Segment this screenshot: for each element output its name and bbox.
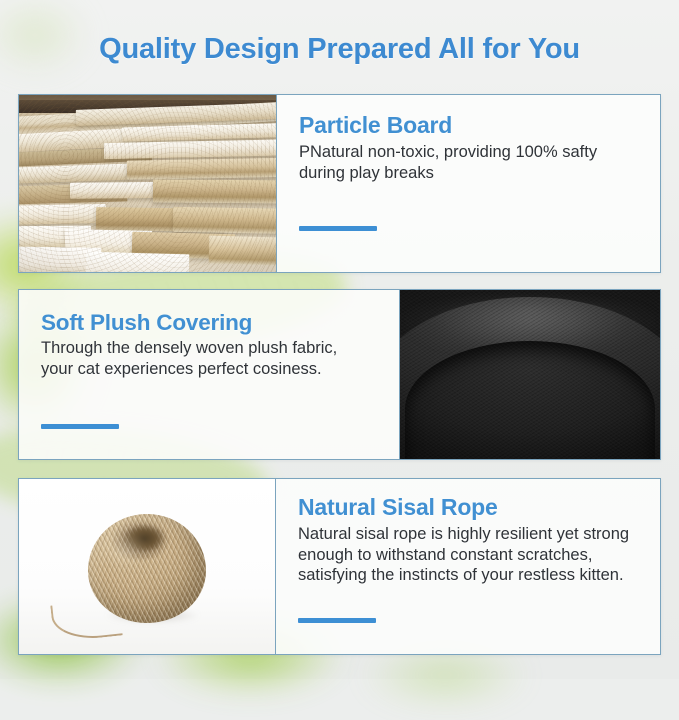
card-description: Natural sisal rope is highly resilient y… [298,524,640,586]
particle-board-photo [19,95,276,272]
accent-bar [299,226,377,231]
plush-fabric-photo [399,290,660,459]
card-title: Natural Sisal Rope [298,495,640,521]
soft-plush-text: Soft Plush Covering Through the densely … [19,290,399,459]
card-title: Soft Plush Covering [41,310,379,335]
card-description: Through the densely woven plush fabric, … [41,338,361,380]
accent-bar [41,424,119,429]
sisal-rope-text: Natural Sisal Rope Natural sisal rope is… [275,479,660,654]
accent-bar [298,618,376,623]
card-title: Particle Board [299,113,640,139]
feature-card-particle-board: Particle Board PNatural non-toxic, provi… [18,94,661,273]
feature-card-sisal-rope: Natural Sisal Rope Natural sisal rope is… [18,478,661,655]
page-title: Quality Design Prepared All for You [0,33,679,66]
card-description: PNatural non-toxic, providing 100% safty… [299,142,640,184]
sisal-rope-photo [19,479,275,654]
particle-board-text: Particle Board PNatural non-toxic, provi… [276,95,660,272]
feature-card-soft-plush: Soft Plush Covering Through the densely … [18,289,661,460]
